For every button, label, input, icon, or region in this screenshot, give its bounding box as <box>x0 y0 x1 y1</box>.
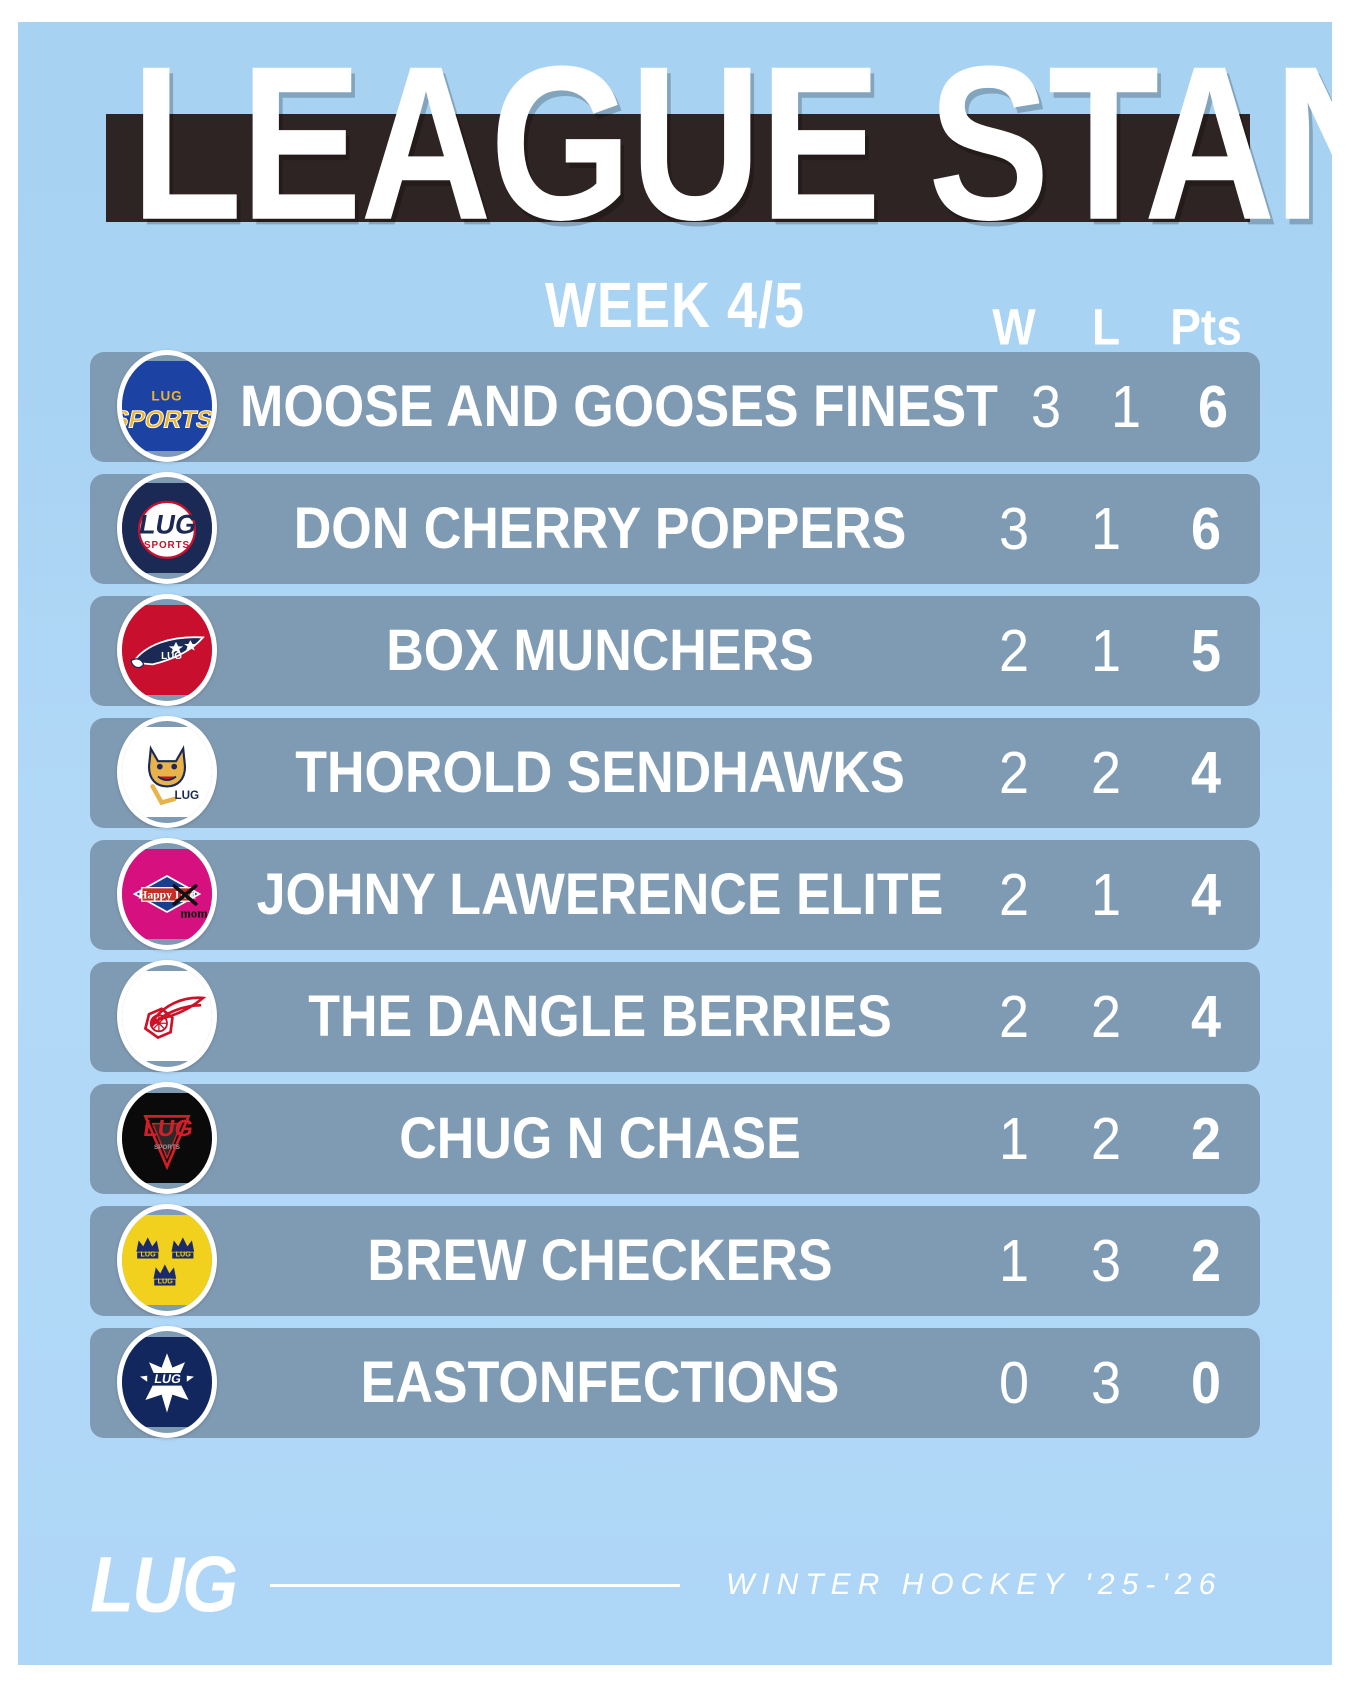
left-margin <box>0 0 18 1687</box>
poster-footer: LUG WINTER HOCKEY '25-'26 <box>90 1540 1260 1630</box>
team-wins: 2 <box>968 620 1060 682</box>
team-name: MOOSE AND GOOSES FINEST <box>90 377 1006 437</box>
team-points: 2 <box>1152 1108 1260 1170</box>
team-points: 2 <box>1152 1230 1260 1292</box>
team-wins: 2 <box>968 864 1060 926</box>
poster-header: LEAGUE STANDINGS WEEK 4/5 <box>90 22 1260 268</box>
standings-table: LUG SPORTS MOOSE AND GOOSES FINEST 3 1 6… <box>90 352 1260 1450</box>
team-wins: 2 <box>968 986 1060 1048</box>
table-row[interactable]: LUG LUG LUG BREW CHECKERS 1 3 2 <box>90 1206 1260 1316</box>
team-losses: 2 <box>1060 742 1152 804</box>
team-points: 4 <box>1152 986 1260 1048</box>
team-losses: 1 <box>1060 620 1152 682</box>
team-wins: 1 <box>968 1108 1060 1170</box>
footer-divider <box>270 1584 680 1587</box>
team-name: THE DANGLE BERRIES <box>90 987 968 1047</box>
team-wins: 0 <box>968 1352 1060 1414</box>
team-losses: 2 <box>1060 1108 1152 1170</box>
page-title: LEAGUE STANDINGS <box>131 34 1219 254</box>
table-row[interactable]: THE DANGLE BERRIES 2 2 4 <box>90 962 1260 1072</box>
table-row[interactable]: LUG BOX MUNCHERS 2 1 5 <box>90 596 1260 706</box>
table-row[interactable]: Happy Dad mom JOHNY LAWERENCE ELITE 2 1 … <box>90 840 1260 950</box>
column-header-row: W L Pts <box>90 300 1260 352</box>
column-header-points: Pts <box>1152 301 1260 352</box>
table-row[interactable]: LUG THOROLD SENDHAWKS 2 2 4 <box>90 718 1260 828</box>
table-row[interactable]: LUG EASTONFECTIONS 0 3 0 <box>90 1328 1260 1438</box>
team-name: EASTONFECTIONS <box>90 1353 968 1413</box>
team-wins: 3 <box>968 498 1060 560</box>
team-losses: 3 <box>1060 1352 1152 1414</box>
team-name: JOHNY LAWERENCE ELITE <box>90 865 968 925</box>
team-points: 6 <box>1166 376 1260 438</box>
team-name: CHUG N CHASE <box>90 1109 968 1169</box>
team-losses: 1 <box>1086 376 1166 438</box>
team-wins: 3 <box>1006 376 1086 438</box>
team-wins: 1 <box>968 1230 1060 1292</box>
team-losses: 2 <box>1060 986 1152 1048</box>
table-row[interactable]: LUG SPORTS DON CHERRY POPPERS 3 1 6 <box>90 474 1260 584</box>
column-header-losses: L <box>1060 301 1152 352</box>
team-name: THOROLD SENDHAWKS <box>90 743 968 803</box>
column-header-wins: W <box>968 301 1060 352</box>
team-points: 6 <box>1152 498 1260 560</box>
team-name: BREW CHECKERS <box>90 1231 968 1291</box>
lug-brand-logo: LUG <box>90 1545 236 1624</box>
right-margin <box>1332 0 1350 1687</box>
team-wins: 2 <box>968 742 1060 804</box>
team-points: 0 <box>1152 1352 1260 1414</box>
table-row[interactable]: LUG SPORTS MOOSE AND GOOSES FINEST 3 1 6 <box>90 352 1260 462</box>
team-points: 4 <box>1152 864 1260 926</box>
table-row[interactable]: LUG SPORTS CHUG N CHASE 1 2 2 <box>90 1084 1260 1194</box>
team-name: BOX MUNCHERS <box>90 621 968 681</box>
team-losses: 1 <box>1060 498 1152 560</box>
footer-tagline: WINTER HOCKEY '25-'26 <box>726 1570 1222 1600</box>
team-name: DON CHERRY POPPERS <box>90 499 968 559</box>
team-losses: 3 <box>1060 1230 1152 1292</box>
league-standings-poster: LEAGUE STANDINGS WEEK 4/5 W L Pts LUG SP… <box>0 0 1350 1687</box>
team-points: 4 <box>1152 742 1260 804</box>
team-points: 5 <box>1152 620 1260 682</box>
team-losses: 1 <box>1060 864 1152 926</box>
